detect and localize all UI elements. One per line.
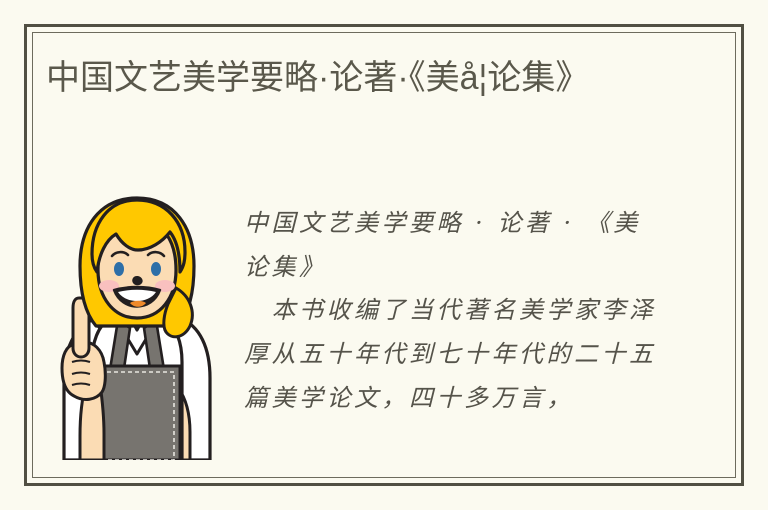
content-area: 中国文艺美学要略 · 论著 · 《美 论集》 本书收编了当代著名美学家李泽厚从五… xyxy=(40,190,728,462)
article-heading: 中国文艺美学要略 · 论著 · 《美 论集》 xyxy=(244,202,664,289)
article-paragraph: 本书收编了当代著名美学家李泽厚从五十年代到七十年代的二十五篇美学论文，四十多万言… xyxy=(244,289,664,420)
article-body: 中国文艺美学要略 · 论著 · 《美 论集》 本书收编了当代著名美学家李泽厚从五… xyxy=(244,202,664,420)
girl-pointing-finger-icon xyxy=(52,192,222,460)
book-info-card: 中国文艺美学要略·论著·《美å­¦论集》 xyxy=(0,0,768,510)
page-title: 中国文艺美学要略·论著·《美å­¦论集》 xyxy=(46,54,696,102)
